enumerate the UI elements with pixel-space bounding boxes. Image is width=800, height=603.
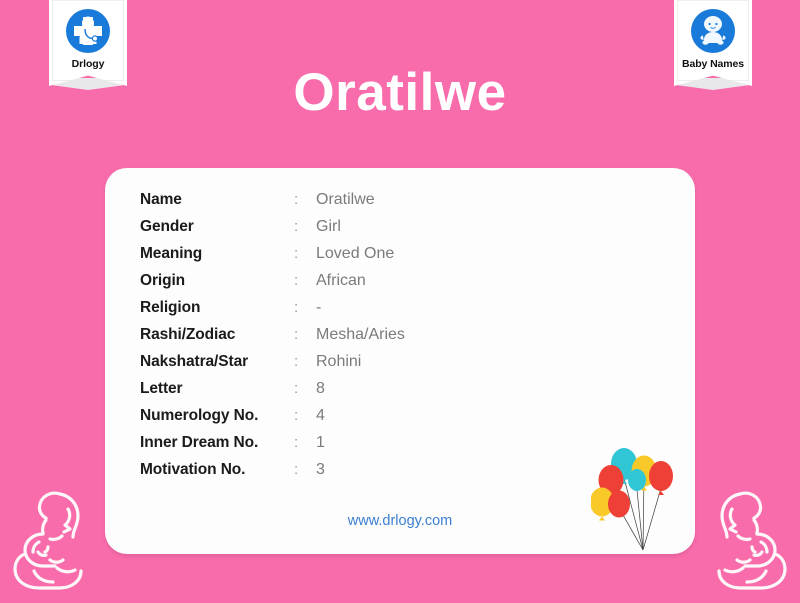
row-label: Meaning xyxy=(140,245,294,263)
mother-and-baby-watermark-right xyxy=(702,476,798,598)
row-value: Oratilwe xyxy=(316,191,375,209)
table-row: Rashi/Zodiac : Mesha/Aries xyxy=(140,326,405,353)
row-value: Mesha/Aries xyxy=(316,326,405,344)
row-value: 1 xyxy=(316,434,325,452)
row-label: Inner Dream No. xyxy=(140,434,294,452)
row-separator: : xyxy=(294,191,316,208)
row-label: Gender xyxy=(140,218,294,236)
row-separator: : xyxy=(294,326,316,343)
table-row: Letter : 8 xyxy=(140,380,405,407)
badge-label-baby-names: Baby Names xyxy=(682,58,744,70)
name-details-table: Name : Oratilwe Gender : Girl Meaning : … xyxy=(140,191,405,488)
brand-badge-drlogy[interactable]: Drlogy xyxy=(49,0,127,86)
row-value: 3 xyxy=(316,461,325,479)
row-value: 8 xyxy=(316,380,325,398)
badge-ribbon: Baby Names xyxy=(674,0,752,86)
table-row: Religion : - xyxy=(140,299,405,326)
balloons-decoration xyxy=(591,446,683,554)
table-row: Meaning : Loved One xyxy=(140,245,405,272)
table-row: Numerology No. : 4 xyxy=(140,407,405,434)
row-value: 4 xyxy=(316,407,325,425)
row-separator: : xyxy=(294,380,316,397)
baby-icon xyxy=(689,7,737,55)
brand-badge-baby-names[interactable]: Baby Names xyxy=(674,0,752,86)
row-label: Numerology No. xyxy=(140,407,294,425)
table-row: Name : Oratilwe xyxy=(140,191,405,218)
row-value: Rohini xyxy=(316,353,361,371)
name-details-card: Name : Oratilwe Gender : Girl Meaning : … xyxy=(105,168,695,554)
table-row: Nakshatra/Star : Rohini xyxy=(140,353,405,380)
badge-label-drlogy: Drlogy xyxy=(72,58,105,70)
row-label: Religion xyxy=(140,299,294,317)
doctor-cross-icon xyxy=(64,7,112,55)
row-label: Motivation No. xyxy=(140,461,294,479)
row-separator: : xyxy=(294,272,316,289)
row-label: Origin xyxy=(140,272,294,290)
row-value: Girl xyxy=(316,218,341,236)
row-value: Loved One xyxy=(316,245,394,263)
row-label: Nakshatra/Star xyxy=(140,353,294,371)
row-separator: : xyxy=(294,434,316,451)
table-row: Inner Dream No. : 1 xyxy=(140,434,405,461)
row-value: - xyxy=(316,299,321,317)
row-separator: : xyxy=(294,245,316,262)
row-separator: : xyxy=(294,353,316,370)
badge-ribbon: Drlogy xyxy=(49,0,127,86)
row-separator: : xyxy=(294,407,316,424)
row-separator: : xyxy=(294,461,316,478)
table-row: Origin : African xyxy=(140,272,405,299)
row-value: African xyxy=(316,272,366,290)
row-label: Letter xyxy=(140,380,294,398)
table-row: Gender : Girl xyxy=(140,218,405,245)
mother-and-baby-watermark-left xyxy=(2,476,98,598)
row-separator: : xyxy=(294,218,316,235)
row-separator: : xyxy=(294,299,316,316)
table-row: Motivation No. : 3 xyxy=(140,461,405,488)
row-label: Name xyxy=(140,191,294,209)
row-label: Rashi/Zodiac xyxy=(140,326,294,344)
